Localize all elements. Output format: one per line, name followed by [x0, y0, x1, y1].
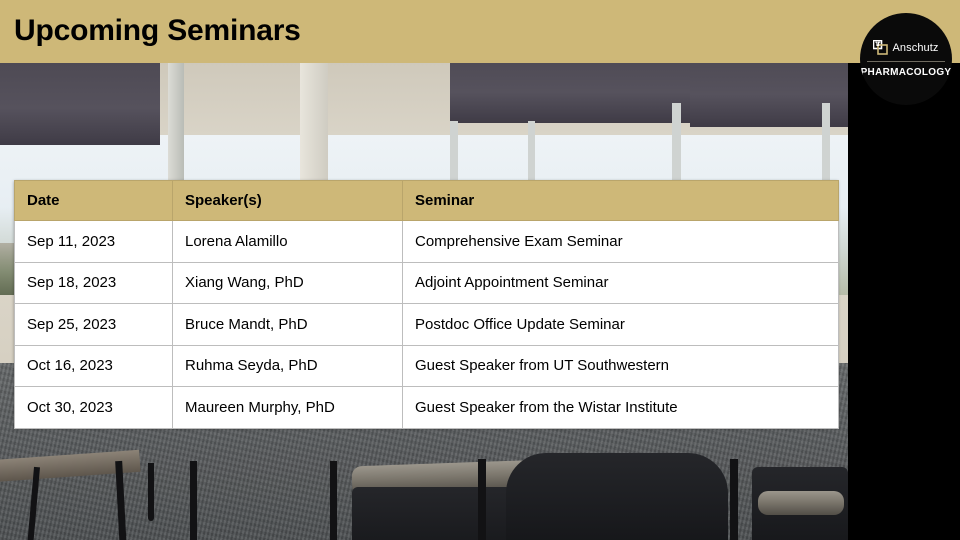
logo-department: PHARMACOLOGY	[861, 67, 952, 78]
column-header-date: Date	[15, 181, 173, 221]
table-row: Sep 11, 2023 Lorena Alamillo Comprehensi…	[15, 221, 839, 263]
photo-chair-leg	[478, 459, 486, 540]
cell-date: Oct 30, 2023	[15, 387, 173, 429]
logo-wordmark: Anschutz	[892, 42, 938, 54]
photo-chair-leg	[190, 461, 197, 540]
logo-wordmark-row: Anschutz	[873, 40, 938, 60]
cell-seminar: Guest Speaker from the Wistar Institute	[403, 387, 839, 429]
photo-chair-leg	[330, 461, 337, 540]
title-bar: Upcoming Seminars	[0, 0, 960, 63]
seminars-table: Date Speaker(s) Seminar Sep 11, 2023 Lor…	[14, 180, 839, 429]
table-row: Oct 30, 2023 Maureen Murphy, PhD Guest S…	[15, 387, 839, 429]
photo-foreground-seat	[758, 491, 844, 515]
cell-date: Sep 25, 2023	[15, 304, 173, 346]
slide: Upcoming Seminars Anschutz PHARMACOLOGY	[0, 0, 960, 540]
table-row: Sep 18, 2023 Xiang Wang, PhD Adjoint App…	[15, 262, 839, 304]
photo-chair-leg	[148, 463, 154, 521]
cu-interlocking-icon	[873, 40, 888, 55]
cell-seminar: Postdoc Office Update Seminar	[403, 304, 839, 346]
cell-date: Oct 16, 2023	[15, 345, 173, 387]
table-body: Sep 11, 2023 Lorena Alamillo Comprehensi…	[15, 221, 839, 429]
table-row: Sep 25, 2023 Bruce Mandt, PhD Postdoc Of…	[15, 304, 839, 346]
cell-speaker: Ruhma Seyda, PhD	[173, 345, 403, 387]
photo-foreground-chair	[506, 453, 728, 540]
table-header-row: Date Speaker(s) Seminar	[15, 181, 839, 221]
photo-window-blind	[0, 63, 160, 145]
photo-window-blind	[450, 63, 690, 123]
logo-divider	[867, 61, 945, 62]
cell-date: Sep 18, 2023	[15, 262, 173, 304]
cell-speaker: Bruce Mandt, PhD	[173, 304, 403, 346]
cell-seminar: Comprehensive Exam Seminar	[403, 221, 839, 263]
seminars-table-wrapper: Date Speaker(s) Seminar Sep 11, 2023 Lor…	[14, 180, 838, 428]
table-row: Oct 16, 2023 Ruhma Seyda, PhD Guest Spea…	[15, 345, 839, 387]
cell-speaker: Maureen Murphy, PhD	[173, 387, 403, 429]
photo-chair-leg	[730, 459, 738, 540]
cell-seminar: Guest Speaker from UT Southwestern	[403, 345, 839, 387]
column-header-speaker: Speaker(s)	[173, 181, 403, 221]
page-title: Upcoming Seminars	[14, 14, 301, 48]
column-header-seminar: Seminar	[403, 181, 839, 221]
cell-date: Sep 11, 2023	[15, 221, 173, 263]
cell-speaker: Lorena Alamillo	[173, 221, 403, 263]
cell-speaker: Xiang Wang, PhD	[173, 262, 403, 304]
department-logo: Anschutz PHARMACOLOGY	[860, 13, 952, 105]
table-head: Date Speaker(s) Seminar	[15, 181, 839, 221]
cell-seminar: Adjoint Appointment Seminar	[403, 262, 839, 304]
